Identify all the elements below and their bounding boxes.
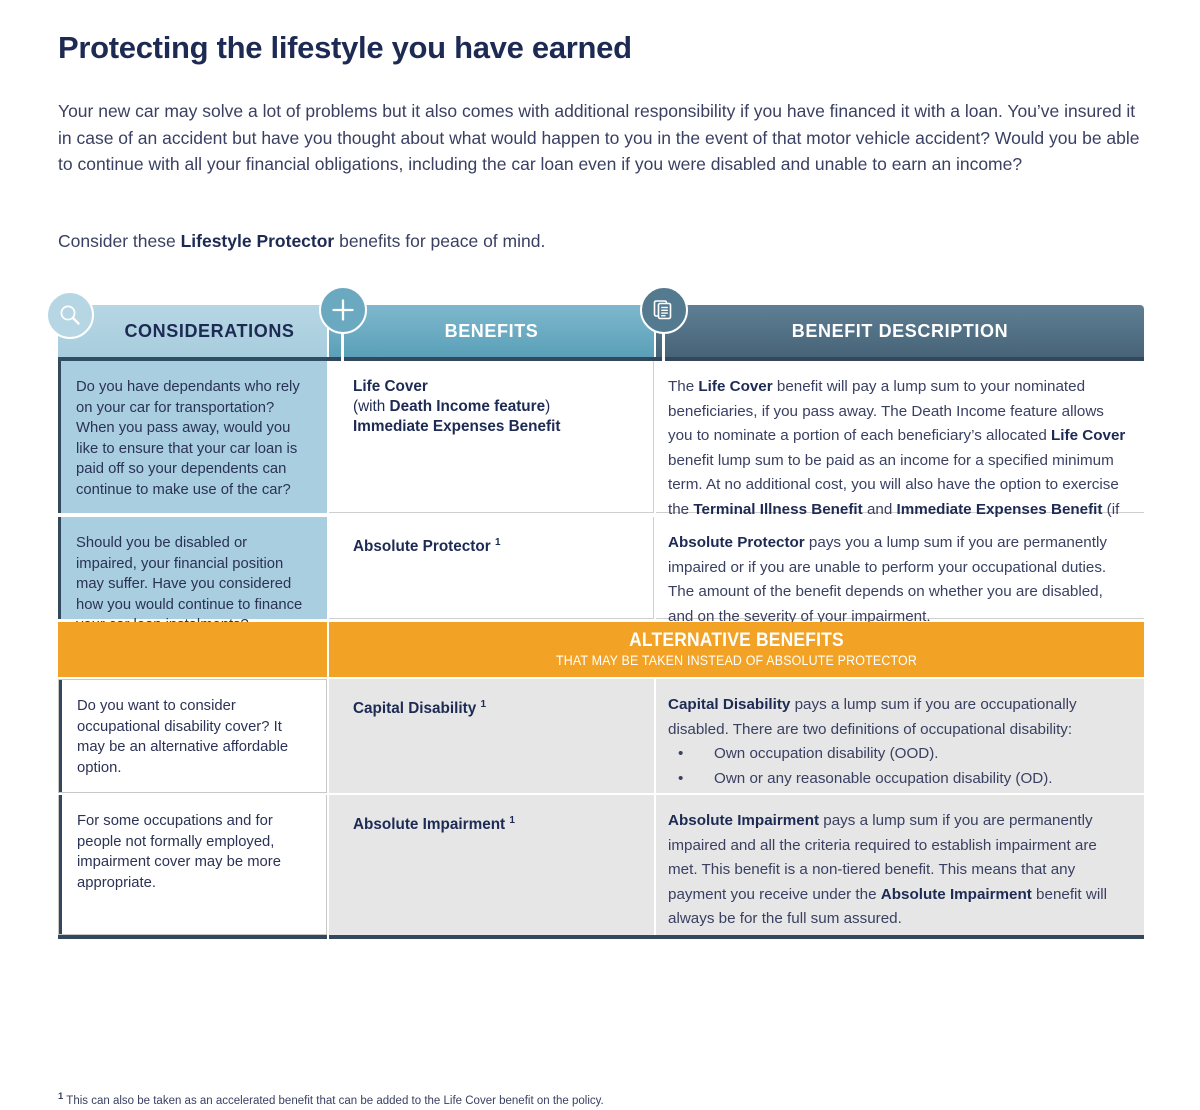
cell-benefit: Life Cover (with Death Income feature) I…: [329, 361, 654, 513]
alternative-benefits-banner-main: ALTERNATIVE BENEFITS THAT MAY BE TAKEN I…: [329, 622, 1144, 677]
table-bottom-rule-left: [58, 935, 327, 939]
table-row: Do you have dependants who rely on your …: [58, 361, 1144, 513]
benefit-name-line3: Immediate Expenses Benefit: [353, 417, 639, 437]
intro-paragraph: Your new car may solve a lot of problems…: [58, 98, 1148, 178]
footnote-marker: 1: [509, 815, 515, 826]
consider-prefix: Consider these: [58, 231, 181, 251]
benefits-table: CONSIDERATIONS BENEFITS BENEFIT DESCRIPT…: [58, 305, 1144, 939]
connector-line-benefits: [341, 333, 344, 363]
connector-line-description: [662, 333, 665, 363]
footnote: 1 This can also be taken as an accelerat…: [58, 1089, 958, 1109]
benefit-description-text: Absolute Impairment pays a lump sum if y…: [668, 809, 1128, 932]
cell-benefit-description: Capital Disability pays a lump sum if yo…: [656, 679, 1144, 793]
cell-consideration: For some occupations and for people not …: [58, 795, 327, 935]
table-header-row: CONSIDERATIONS BENEFITS BENEFIT DESCRIPT…: [58, 305, 1144, 357]
row-left-rule: [59, 680, 62, 792]
cell-benefit-description: The Life Cover benefit will pay a lump s…: [656, 361, 1144, 513]
row-left-rule: [58, 361, 61, 513]
footnote-marker: 1: [481, 699, 487, 710]
table-row: Do you want to consider occupational dis…: [58, 679, 1144, 793]
documents-icon: [640, 286, 688, 334]
footnote-text: This can also be taken as an accelerated…: [66, 1095, 603, 1107]
consider-line: Consider these Lifestyle Protector benef…: [58, 228, 1058, 254]
benefit-name-line1: Absolute Impairment: [353, 816, 505, 833]
cell-consideration: Should you be disabled or impaired, your…: [58, 517, 327, 619]
footnote-marker: 1: [58, 1091, 63, 1102]
alternative-benefits-title: ALTERNATIVE BENEFITS: [362, 630, 1112, 652]
plus-icon: [319, 286, 367, 334]
consideration-text: Should you be disabled or impaired, your…: [76, 533, 311, 636]
row-left-rule: [58, 517, 61, 619]
list-item: Own occupation disability (OOD).: [668, 742, 1128, 767]
benefit-name: Absolute Protector 1: [353, 533, 639, 557]
benefit-name: Life Cover (with Death Income feature) I…: [353, 377, 639, 437]
table-row: For some occupations and for people not …: [58, 795, 1144, 935]
cell-benefit: Absolute Impairment 1: [329, 795, 654, 935]
alternative-benefits-banner-left: [58, 622, 327, 677]
cell-consideration: Do you have dependants who rely on your …: [58, 361, 327, 513]
consideration-text: Do you have dependants who rely on your …: [76, 377, 311, 500]
column-header-considerations: CONSIDERATIONS: [58, 305, 327, 357]
column-header-benefit-description: BENEFIT DESCRIPTION: [656, 305, 1144, 357]
list-item: Own or any reasonable occupation disabil…: [668, 767, 1128, 792]
benefit-name: Capital Disability 1: [353, 695, 640, 719]
consider-suffix: benefits for peace of mind.: [334, 231, 545, 251]
cell-consideration: Do you want to consider occupational dis…: [58, 679, 327, 793]
column-header-benefit-description-label: BENEFIT DESCRIPTION: [792, 321, 1008, 342]
column-header-benefits: BENEFITS: [329, 305, 654, 357]
document-page: Protecting the lifestyle you have earned…: [0, 0, 1200, 1110]
consideration-text: For some occupations and for people not …: [77, 811, 310, 893]
search-icon: [46, 291, 94, 339]
cell-benefit-description: Absolute Protector pays you a lump sum i…: [656, 517, 1144, 619]
table-row: Should you be disabled or impaired, your…: [58, 517, 1144, 619]
page-title: Protecting the lifestyle you have earned: [58, 30, 632, 66]
benefit-name: Absolute Impairment 1: [353, 811, 640, 835]
alternative-benefits-subtitle: THAT MAY BE TAKEN INSTEAD OF ABSOLUTE PR…: [362, 653, 1112, 668]
consider-product-name: Lifestyle Protector: [181, 231, 335, 251]
column-header-benefits-label: BENEFITS: [445, 321, 539, 342]
benefit-name-line1: Absolute Protector: [353, 538, 491, 555]
benefit-description-text: Capital Disability pays a lump sum if yo…: [668, 693, 1128, 742]
alternative-benefits-banner: ALTERNATIVE BENEFITS THAT MAY BE TAKEN I…: [58, 622, 1144, 677]
cell-benefit: Capital Disability 1: [329, 679, 654, 793]
benefit-description-text: Absolute Protector pays you a lump sum i…: [668, 531, 1128, 629]
table-bottom-rule: [58, 935, 1144, 939]
consideration-text: Do you want to consider occupational dis…: [77, 696, 310, 778]
column-header-considerations-label: CONSIDERATIONS: [124, 321, 294, 342]
table-bottom-rule-main: [329, 935, 1144, 939]
benefit-description-bullets: Own occupation disability (OOD). Own or …: [668, 742, 1128, 791]
benefit-name-line1: Life Cover: [353, 377, 639, 397]
footnote-marker: 1: [495, 537, 501, 548]
cell-benefit-description: Absolute Impairment pays a lump sum if y…: [656, 795, 1144, 935]
cell-benefit: Absolute Protector 1: [329, 517, 654, 619]
row-left-rule: [59, 795, 62, 934]
benefit-name-line2: (with Death Income feature): [353, 397, 639, 417]
benefit-name-line1: Capital Disability: [353, 700, 476, 717]
